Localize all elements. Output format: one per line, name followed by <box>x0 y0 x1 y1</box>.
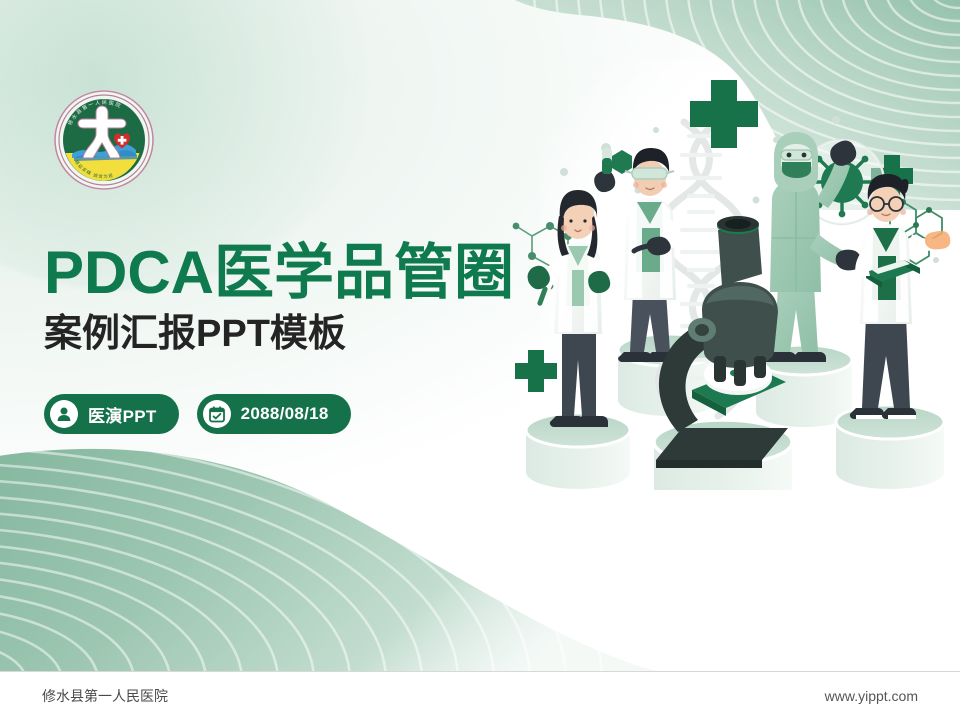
user-icon <box>50 400 78 428</box>
date-pill-label: 2088/08/18 <box>241 404 329 424</box>
date-pill[interactable]: 2088/08/18 <box>197 394 351 434</box>
page-title: PDCA医学品管圈 <box>44 243 564 303</box>
hazmat-worker-virus <box>762 132 862 362</box>
author-pill-label: 医演PPT <box>88 402 157 427</box>
page-subtitle: 案例汇报PPT模板 <box>44 315 564 355</box>
hex-particle-top <box>612 150 632 174</box>
title-block: PDCA医学品管圈 案例汇报PPT模板 <box>44 243 564 355</box>
presentation-slide: 修水县第一人民医院 精益求精 诚信为民 PDCA医学品管圈 案例汇报PPT模板 … <box>0 0 960 720</box>
footer-website: www.yippt.com <box>825 688 918 704</box>
medical-research-team-illustration <box>506 60 960 490</box>
footer-organization: 修水县第一人民医院 <box>42 686 168 706</box>
author-pill[interactable]: 医演PPT <box>44 394 179 434</box>
male-scientist-goggles <box>594 148 678 362</box>
hospital-logo: 修水县第一人民医院 精益求精 诚信为民 <box>52 88 156 192</box>
calendar-icon <box>203 400 231 428</box>
slide-footer: 修水县第一人民医院 www.yippt.com <box>0 672 960 720</box>
medical-cross-small-left <box>515 350 557 392</box>
meta-pill-group: 医演PPT 2088/08/18 <box>44 394 351 434</box>
